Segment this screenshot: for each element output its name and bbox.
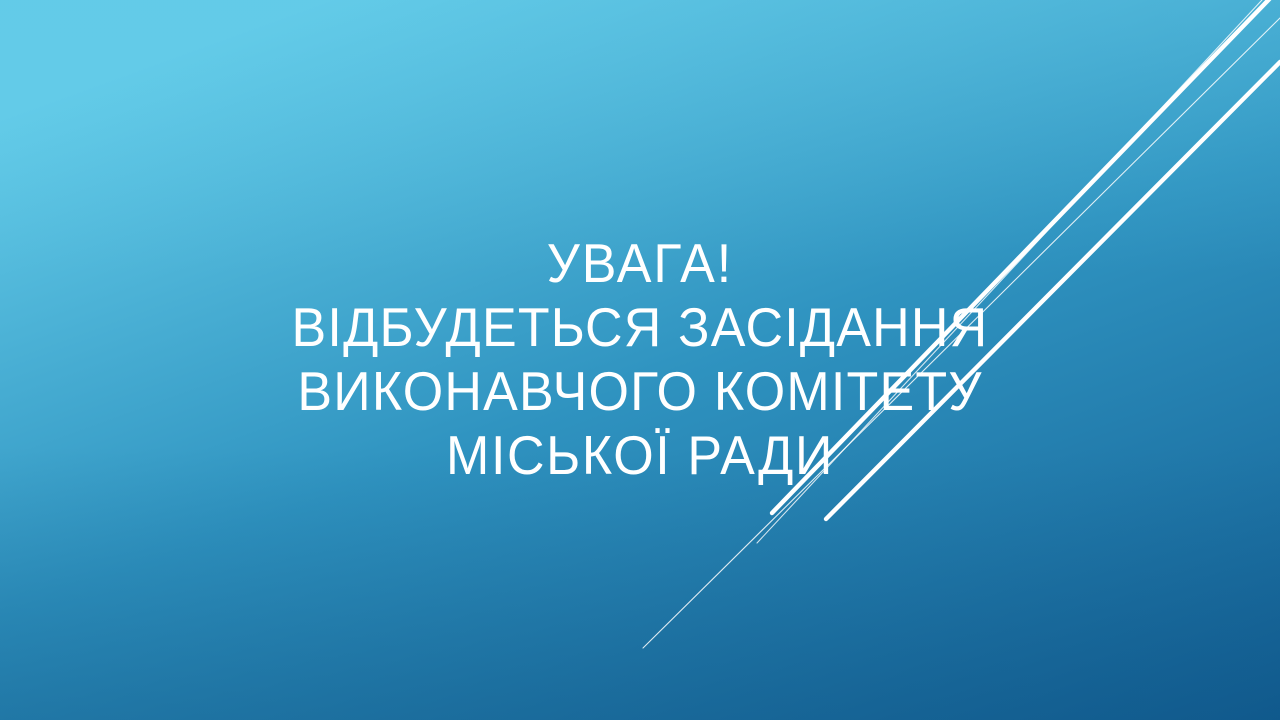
thick-lower-decor-line [826,62,1280,519]
hairline-short-decor-line [757,0,1262,543]
presentation-slide: УВАГА! ВІДБУДЕТЬСЯ ЗАСІДАННЯ ВИКОНАВЧОГО… [0,0,1280,720]
slide-title-block: УВАГА! ВІДБУДЕТЬСЯ ЗАСІДАННЯ ВИКОНАВЧОГО… [0,0,1280,720]
slide-title-line-1: УВАГА! [547,230,733,298]
hairline-long-decor-line [643,18,1280,648]
diagonal-accent-lines-group [0,0,1280,720]
slide-title-line-3: ВИКОНАВЧОГО КОМІТЕТУ [297,358,982,426]
slide-title-line-2: ВІДБУДЕТЬСЯ ЗАСІДАННЯ [292,294,989,362]
slide-title-line-4: МІСЬКОЇ РАДИ [446,422,834,490]
thick-upper-decor-line [772,0,1280,513]
